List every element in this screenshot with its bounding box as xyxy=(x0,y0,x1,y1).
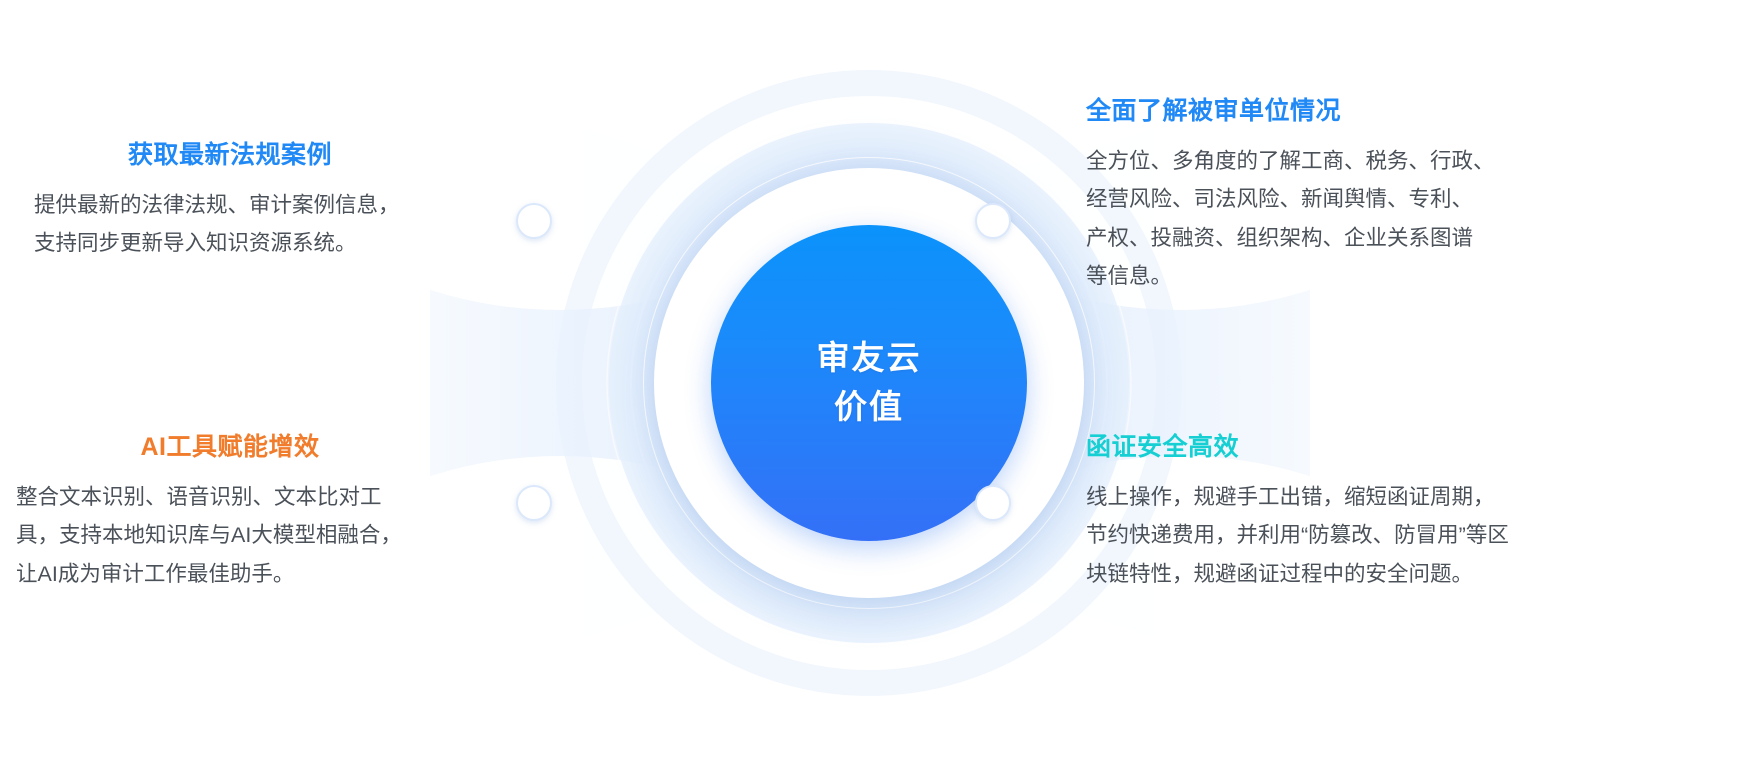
feature-block-top-right: 全面了解被审单位情况 全方位、多角度的了解工商、税务、行政、 经营风险、司法风险… xyxy=(1086,96,1586,295)
feature-body-bottom-right: 线上操作，规避手工出错，缩短函证周期， 节约快递费用，并利用“防篡改、防冒用”等… xyxy=(1086,478,1606,593)
feature-heading-top-right: 全面了解被审单位情况 xyxy=(1086,96,1586,126)
infographic-canvas: 审友云 价值 获取最新法规案例 提供最新的法律法规、审计案例信息， 支持同步更新… xyxy=(0,0,1738,766)
hub-title-line-2: 价值 xyxy=(834,386,904,429)
feature-heading-bottom-right: 函证安全高效 xyxy=(1086,432,1606,462)
feature-block-top-left: 获取最新法规案例 提供最新的法律法规、审计案例信息， 支持同步更新导入知识资源系… xyxy=(26,140,496,263)
connector-dot-bottom-left xyxy=(516,485,552,521)
feature-block-bottom-right: 函证安全高效 线上操作，规避手工出错，缩短函证周期， 节约快递费用，并利用“防篡… xyxy=(1086,432,1606,593)
connector-dot-top-right xyxy=(975,203,1011,239)
feature-body-top-right: 全方位、多角度的了解工商、税务、行政、 经营风险、司法风险、新闻舆情、专利、 产… xyxy=(1086,142,1586,295)
connector-dot-bottom-right xyxy=(975,485,1011,521)
feature-body-top-left: 提供最新的法律法规、审计案例信息， 支持同步更新导入知识资源系统。 xyxy=(26,186,496,263)
connector-dot-top-left xyxy=(516,203,552,239)
hub-title-line-1: 审友云 xyxy=(817,337,922,380)
feature-heading-top-left: 获取最新法规案例 xyxy=(26,140,496,170)
feature-heading-bottom-left: AI工具赋能增效 xyxy=(16,432,486,462)
feature-body-bottom-left: 整合文本识别、语音识别、文本比对工 具，支持本地知识库与AI大模型相融合， 让A… xyxy=(16,478,486,593)
feature-block-bottom-left: AI工具赋能增效 整合文本识别、语音识别、文本比对工 具，支持本地知识库与AI大… xyxy=(16,432,486,593)
center-hub: 审友云 价值 xyxy=(609,123,1129,643)
